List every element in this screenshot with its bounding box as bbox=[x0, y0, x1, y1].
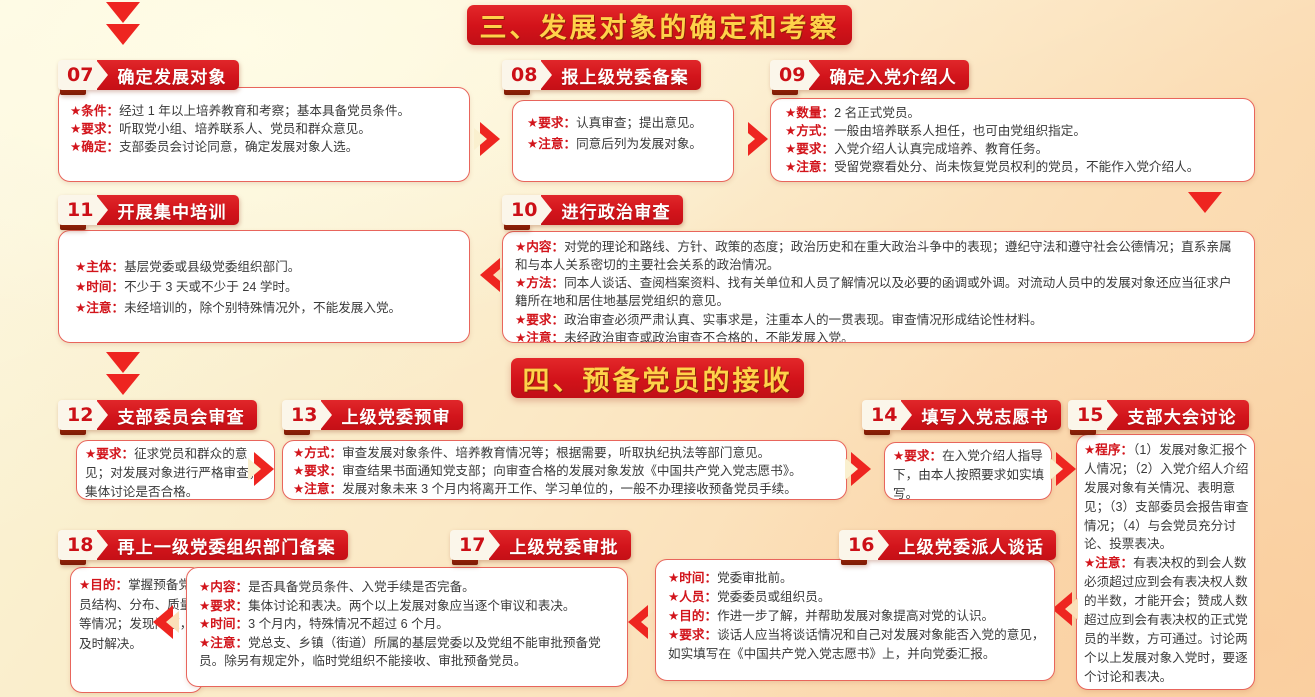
card-body-09: ★数量：2 名正式党员。 ★方式：一般由培养联系人担任，也可由党组织指定。 ★要… bbox=[770, 98, 1255, 182]
card-number-15: 15 bbox=[1068, 400, 1107, 430]
step-card-11[interactable]: 11 开展集中培训 ★主体：基层党委或县级党委组织部门。 ★时间：不少于 3 天… bbox=[58, 195, 470, 343]
bullet-star-icon: ★ bbox=[293, 446, 304, 460]
card-body-17: ★内容：是否具备党员条件、入党手续是否完备。 ★要求：集体讨论和表决。两个以上发… bbox=[186, 567, 628, 687]
card-line: ★目的：作进一步了解，并帮助发展对象提高对党的认识。 bbox=[668, 607, 1046, 626]
section-title-4: 四、预备党员的接收 bbox=[523, 359, 793, 398]
bullet-star-icon: ★ bbox=[668, 571, 679, 585]
bullet-star-icon: ★ bbox=[199, 599, 210, 613]
bullet-star-icon: ★ bbox=[785, 142, 796, 156]
card-body-13: ★方式：审查发展对象条件、培养教育情况等；根据需要，听取执纪执法等部门意见。 ★… bbox=[282, 440, 847, 500]
card-header-08: 08 报上级党委备案 bbox=[502, 60, 701, 90]
card-line: ★内容：是否具备党员条件、入党手续是否完备。 bbox=[199, 578, 619, 597]
card-line: ★要求：征求党员和群众的意见；对发展对象进行严格审查；集体讨论是否合格。 bbox=[85, 445, 268, 500]
bullet-star-icon: ★ bbox=[515, 313, 526, 327]
step-card-13[interactable]: 13 上级党委预审 ★方式：审查发展对象条件、培养教育情况等；根据需要，听取执纪… bbox=[282, 400, 847, 500]
bullet-star-icon: ★ bbox=[668, 590, 679, 604]
card-line: ★要求：审查结果书面通知党支部；向审查合格的发展对象发放《中国共产党入党志愿书》… bbox=[293, 463, 835, 481]
card-title-10: 进行政治审查 bbox=[541, 195, 682, 225]
card-title-17: 上级党委审批 bbox=[489, 530, 630, 560]
bullet-star-icon: ★ bbox=[70, 122, 81, 136]
bullet-star-icon: ★ bbox=[785, 124, 796, 138]
card-body-16: ★时间：党委审批前。 ★人员：党委委员或组织员。 ★目的：作进一步了解，并帮助发… bbox=[655, 559, 1055, 681]
card-number-13: 13 bbox=[282, 400, 321, 430]
card-line: ★方式：一般由培养联系人担任，也可由党组织指定。 bbox=[785, 122, 1243, 140]
bullet-star-icon: ★ bbox=[85, 447, 96, 461]
card-number-12: 12 bbox=[58, 400, 97, 430]
bullet-star-icon: ★ bbox=[785, 160, 796, 174]
card-line: ★主体：基层党委或县级党委组织部门。 bbox=[75, 257, 458, 277]
card-header-11: 11 开展集中培训 bbox=[58, 195, 239, 225]
bullet-star-icon: ★ bbox=[1084, 556, 1095, 570]
bullet-star-icon: ★ bbox=[70, 104, 81, 118]
step-card-15[interactable]: 15 支部大会讨论 ★程序：（1）发展对象汇报个人情况；（2）入党介绍人介绍发展… bbox=[1068, 400, 1255, 690]
card-line: ★内容：对党的理论和路线、方针、政策的态度；政治历史和在重大政治斗争中的表现；遵… bbox=[515, 238, 1244, 274]
card-title-15: 支部大会讨论 bbox=[1107, 400, 1248, 430]
bullet-star-icon: ★ bbox=[199, 636, 210, 650]
card-line: ★要求：集体讨论和表决。两个以上发展对象应当逐个审议和表决。 bbox=[199, 597, 619, 616]
card-number-18: 18 bbox=[58, 530, 97, 560]
card-title-11: 开展集中培训 bbox=[97, 195, 238, 225]
bullet-star-icon: ★ bbox=[79, 578, 90, 592]
bullet-star-icon: ★ bbox=[75, 280, 86, 294]
card-number-08: 08 bbox=[502, 60, 541, 90]
card-body-14: ★要求：在入党介绍人指导下，由本人按照要求如实填写。 bbox=[884, 442, 1052, 500]
bullet-star-icon: ★ bbox=[70, 140, 81, 154]
card-title-08: 报上级党委备案 bbox=[541, 60, 700, 90]
card-line: ★时间：不少于 3 天或不少于 24 学时。 bbox=[75, 277, 458, 297]
card-line: ★注意：党总支、乡镇（街道）所属的基层党委以及党组不能审批预备党员。除另有规定外… bbox=[199, 634, 619, 671]
card-line: ★要求：听取党小组、培养联系人、党员和群众意见。 bbox=[70, 120, 458, 138]
card-title-16: 上级党委派人谈话 bbox=[878, 530, 1056, 560]
card-number-14: 14 bbox=[862, 400, 901, 430]
card-line: ★注意：未经培训的，除个别特殊情况外，不能发展入党。 bbox=[75, 298, 458, 318]
section-banner-3: 三、发展对象的确定和考察 bbox=[467, 5, 852, 45]
card-body-08: ★要求：认真审查；提出意见。 ★注意：同意后列为发展对象。 bbox=[512, 100, 734, 182]
card-line: ★注意：未经政治审查或政治审查不合格的，不能发展入党。 bbox=[515, 329, 1244, 343]
card-header-16: 16 上级党委派人谈话 bbox=[839, 530, 1056, 560]
bullet-star-icon: ★ bbox=[527, 116, 538, 130]
bullet-star-icon: ★ bbox=[515, 331, 526, 343]
card-number-11: 11 bbox=[58, 195, 97, 225]
card-line: ★时间：3 个月内，特殊情况不超过 6 个月。 bbox=[199, 615, 619, 634]
card-line: ★方法：同本人谈话、查阅档案资料、找有关单位和人员了解情况以及必要的函调或外调。… bbox=[515, 274, 1244, 310]
card-line: ★条件：经过 1 年以上培养教育和考察；基本具备党员条件。 bbox=[70, 102, 458, 120]
bullet-star-icon: ★ bbox=[75, 260, 86, 274]
step-card-07[interactable]: 07 确定发展对象 ★条件：经过 1 年以上培养教育和考察；基本具备党员条件。 … bbox=[58, 60, 470, 182]
step-card-12[interactable]: 12 支部委员会审查 ★要求：征求党员和群众的意见；对发展对象进行严格审查；集体… bbox=[58, 400, 275, 500]
section-title-3: 三、发展对象的确定和考察 bbox=[480, 6, 840, 45]
bullet-star-icon: ★ bbox=[668, 609, 679, 623]
step-card-09[interactable]: 09 确定入党介绍人 ★数量：2 名正式党员。 ★方式：一般由培养联系人担任，也… bbox=[770, 60, 1255, 182]
card-number-07: 07 bbox=[58, 60, 97, 90]
bullet-star-icon: ★ bbox=[1084, 443, 1095, 457]
card-line: ★方式：审查发展对象条件、培养教育情况等；根据需要，听取执纪执法等部门意见。 bbox=[293, 445, 835, 463]
card-line: ★数量：2 名正式党员。 bbox=[785, 104, 1243, 122]
bullet-star-icon: ★ bbox=[293, 464, 304, 478]
card-line: ★人员：党委委员或组织员。 bbox=[668, 588, 1046, 607]
card-line: ★要求：认真审查；提出意见。 bbox=[527, 113, 722, 134]
card-header-09: 09 确定入党介绍人 bbox=[770, 60, 969, 90]
card-body-10: ★内容：对党的理论和路线、方针、政策的态度；政治历史和在重大政治斗争中的表现；遵… bbox=[502, 231, 1255, 343]
card-line: ★注意：发展对象未来 3 个月内将离开工作、学习单位的，一般不办理接收预备党员手… bbox=[293, 481, 835, 499]
card-number-16: 16 bbox=[839, 530, 878, 560]
card-header-07: 07 确定发展对象 bbox=[58, 60, 239, 90]
card-body-11: ★主体：基层党委或县级党委组织部门。 ★时间：不少于 3 天或不少于 24 学时… bbox=[58, 230, 470, 343]
card-line: ★确定：支部委员会讨论同意，确定发展对象人选。 bbox=[70, 138, 458, 156]
card-header-12: 12 支部委员会审查 bbox=[58, 400, 257, 430]
card-line: ★注意：有表决权的到会人数必须超过应到会有表决权人数的半数，才能开会；赞成人数超… bbox=[1084, 554, 1249, 686]
card-title-18: 再上一级党委组织部门备案 bbox=[97, 530, 347, 560]
bullet-star-icon: ★ bbox=[199, 617, 210, 631]
section-banner-4: 四、预备党员的接收 bbox=[511, 358, 804, 398]
card-header-10: 10 进行政治审查 bbox=[502, 195, 683, 225]
bullet-star-icon: ★ bbox=[527, 137, 538, 151]
card-body-18: ★目的：掌握预备党员结构、分布、质量等情况；发现问题，及时解决。 bbox=[70, 567, 203, 693]
card-number-17: 17 bbox=[450, 530, 489, 560]
card-number-09: 09 bbox=[770, 60, 809, 90]
bullet-star-icon: ★ bbox=[785, 106, 796, 120]
card-title-13: 上级党委预审 bbox=[321, 400, 462, 430]
card-line: ★时间：党委审批前。 bbox=[668, 569, 1046, 588]
card-header-17: 17 上级党委审批 bbox=[450, 530, 631, 560]
card-title-14: 填写入党志愿书 bbox=[901, 400, 1060, 430]
bullet-star-icon: ★ bbox=[893, 449, 904, 463]
bullet-star-icon: ★ bbox=[293, 482, 304, 496]
bullet-star-icon: ★ bbox=[668, 628, 679, 642]
step-card-14[interactable]: 14 填写入党志愿书 ★要求：在入党介绍人指导下，由本人按照要求如实填写。 bbox=[862, 400, 1052, 500]
card-line: ★注意：受留党察看处分、尚未恢复党员权利的党员，不能作入党介绍人。 bbox=[785, 158, 1243, 176]
card-title-07: 确定发展对象 bbox=[97, 60, 238, 90]
card-line: ★程序：（1）发展对象汇报个人情况；（2）入党介绍人介绍发展对象有关情况、表明意… bbox=[1084, 441, 1249, 554]
bullet-star-icon: ★ bbox=[75, 301, 86, 315]
card-title-09: 确定入党介绍人 bbox=[809, 60, 968, 90]
card-line: ★要求：政治审查必须严肃认真、实事求是，注重本人的一贯表现。审查情况形成结论性材… bbox=[515, 311, 1244, 329]
step-card-08[interactable]: 08 报上级党委备案 ★要求：认真审查；提出意见。 ★注意：同意后列为发展对象。 bbox=[502, 60, 737, 182]
card-body-12: ★要求：征求党员和群众的意见；对发展对象进行严格审查；集体讨论是否合格。 bbox=[76, 440, 275, 500]
bullet-star-icon: ★ bbox=[515, 276, 526, 290]
flowchart-stage: 三、发展对象的确定和考察 07 确定发展对象 ★条件：经过 1 年以上培养教育和… bbox=[0, 0, 1315, 697]
card-body-15: ★程序：（1）发展对象汇报个人情况；（2）入党介绍人介绍发展对象有关情况、表明意… bbox=[1076, 434, 1255, 690]
step-card-10[interactable]: 10 进行政治审查 ★内容：对党的理论和路线、方针、政策的态度；政治历史和在重大… bbox=[502, 195, 1255, 343]
bullet-star-icon: ★ bbox=[515, 240, 526, 254]
step-card-16[interactable]: 16 上级党委派人谈话 ★时间：党委审批前。 ★人员：党委委员或组织员。 ★目的… bbox=[655, 530, 1055, 695]
card-body-07: ★条件：经过 1 年以上培养教育和考察；基本具备党员条件。 ★要求：听取党小组、… bbox=[58, 87, 470, 182]
card-title-12: 支部委员会审查 bbox=[97, 400, 256, 430]
card-header-14: 14 填写入党志愿书 bbox=[862, 400, 1061, 430]
card-header-18: 18 再上一级党委组织部门备案 bbox=[58, 530, 348, 560]
card-line: ★注意：同意后列为发展对象。 bbox=[527, 134, 722, 155]
bullet-star-icon: ★ bbox=[199, 580, 210, 594]
card-line: ★要求：在入党介绍人指导下，由本人按照要求如实填写。 bbox=[893, 447, 1045, 500]
card-header-15: 15 支部大会讨论 bbox=[1068, 400, 1249, 430]
card-number-10: 10 bbox=[502, 195, 541, 225]
card-line: ★要求：入党介绍人认真完成培养、教育任务。 bbox=[785, 140, 1243, 158]
card-header-13: 13 上级党委预审 bbox=[282, 400, 463, 430]
card-line: ★要求：谈话人应当将谈话情况和自己对发展对象能否入党的意见，如实填写在《中国共产… bbox=[668, 626, 1046, 664]
